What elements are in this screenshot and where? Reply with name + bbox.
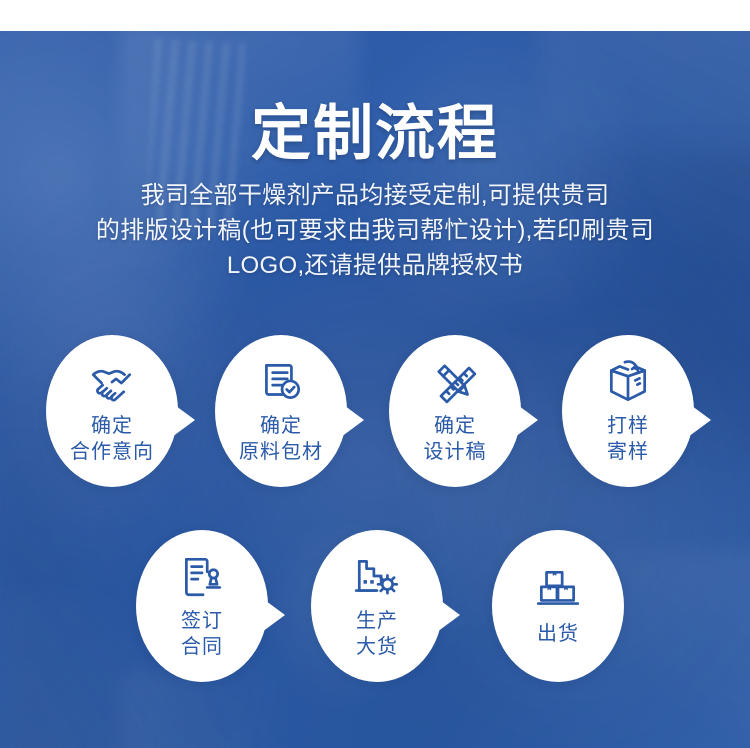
process-step-sign-contract[interactable]: 签订 合同 xyxy=(136,530,268,682)
factory-gear-icon xyxy=(352,552,402,602)
step-label-line-1: 确定 xyxy=(424,413,487,439)
step-label-line-1: 确定 xyxy=(70,413,154,439)
process-row-2: 签订 合同 xyxy=(0,530,750,690)
handshake-icon xyxy=(87,357,137,407)
step-label-line-1: 生产 xyxy=(356,608,398,634)
subtitle-line-1: 我司全部干燥剂产品均接受定制,可提供贵司 xyxy=(0,178,750,213)
page-title: 定制流程 xyxy=(0,101,750,167)
process-step-confirm-design[interactable]: 确定 设计稿 xyxy=(389,335,521,487)
page-subtitle: 我司全部干燥剂产品均接受定制,可提供贵司 的排版设计稿(也可要求由我司帮忙设计)… xyxy=(0,178,750,283)
step-label-line-2: 设计稿 xyxy=(424,439,487,465)
process-step-sample[interactable]: 打样 寄样 xyxy=(562,335,694,487)
step-label-line-1: 打样 xyxy=(607,413,649,439)
step-label-line-2: 合作意向 xyxy=(70,439,154,465)
custom-process-banner: 定制流程 我司全部干燥剂产品均接受定制,可提供贵司 的排版设计稿(也可要求由我司… xyxy=(0,0,750,748)
stacked-boxes-icon xyxy=(533,565,583,615)
step-label-line-1: 确定 xyxy=(239,413,323,439)
process-step-shipment[interactable]: 出货 xyxy=(492,530,624,682)
process-step-confirm-materials[interactable]: 确定 原料包材 xyxy=(215,335,347,487)
document-check-icon xyxy=(256,357,306,407)
contract-stamp-icon xyxy=(177,552,227,602)
subtitle-line-3: LOGO,还请提供品牌授权书 xyxy=(0,248,750,283)
step-label-line-1: 出货 xyxy=(537,621,579,647)
step-label-line-2: 大货 xyxy=(356,634,398,660)
process-step-mass-production[interactable]: 生产 大货 xyxy=(311,530,443,682)
step-label-line-1: 签订 xyxy=(181,608,223,634)
ruler-pencil-icon xyxy=(430,357,480,407)
top-white-strip xyxy=(0,0,750,31)
subtitle-line-2: 的排版设计稿(也可要求由我司帮忙设计),若印刷贵司 xyxy=(0,213,750,248)
step-label-line-2: 原料包材 xyxy=(239,439,323,465)
open-box-arrow-icon xyxy=(603,357,653,407)
process-step-confirm-cooperation[interactable]: 确定 合作意向 xyxy=(46,335,178,487)
process-row-1: 确定 合作意向 确定 原料包材 xyxy=(0,335,750,495)
step-label-line-2: 合同 xyxy=(181,634,223,660)
step-label-line-2: 寄样 xyxy=(607,439,649,465)
